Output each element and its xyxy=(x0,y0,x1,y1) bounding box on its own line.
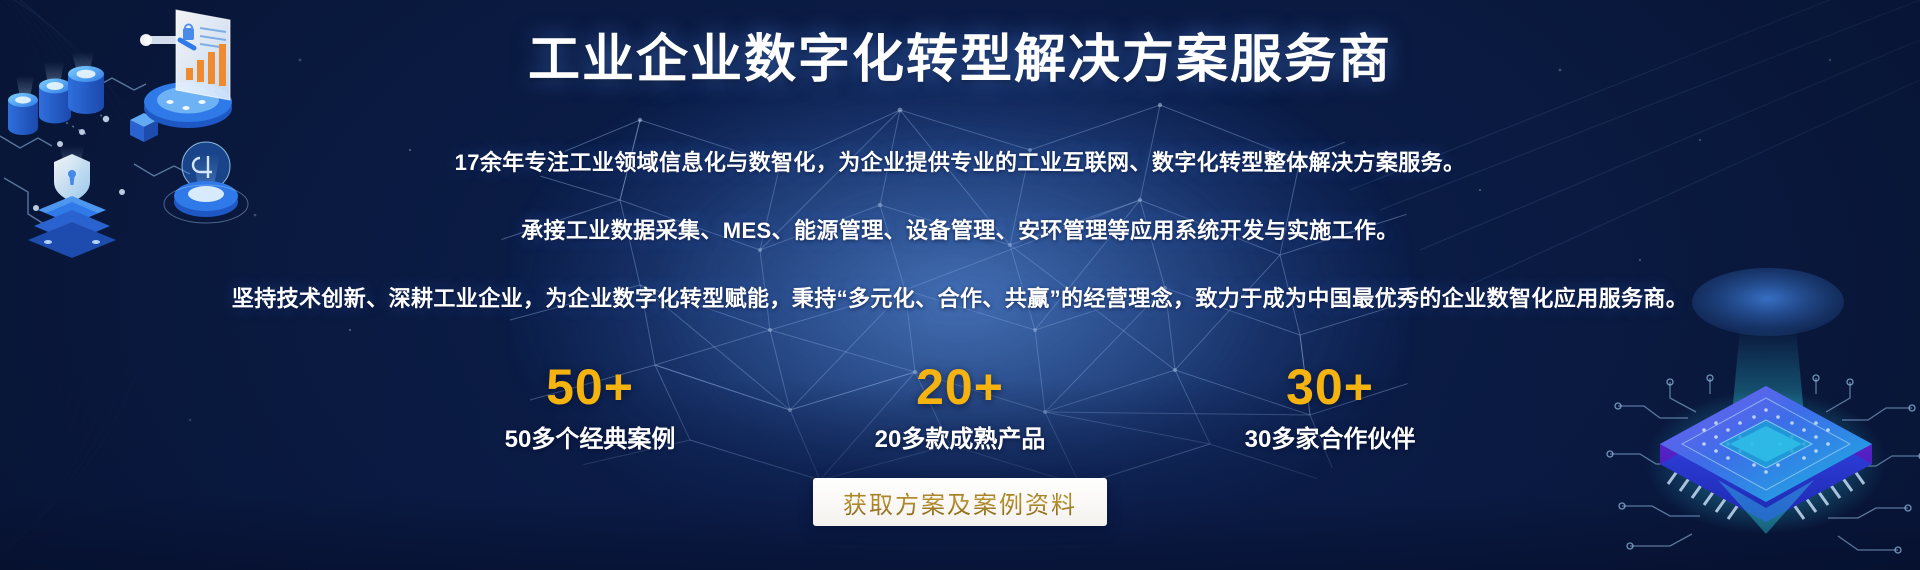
cta-container: 获取方案及案例资料 xyxy=(813,478,1107,526)
stat-item-partners: 30+ 30多家合作伙伴 xyxy=(1220,361,1440,455)
stat-item-cases: 50+ 50多个经典案例 xyxy=(480,361,700,455)
stat-label: 50多个经典案例 xyxy=(505,419,676,454)
stat-number: 50+ xyxy=(546,361,634,414)
stat-item-products: 20+ 20多款成熟产品 xyxy=(850,361,1070,455)
banner-content: 工业企业数字化转型解决方案服务商 17余年专注工业领域信息化与数智化，为企业提供… xyxy=(0,0,1920,570)
subtitle-line-3: 坚持技术创新、深耕工业企业，为企业数字化转型赋能，秉持“多元化、合作、共赢”的经… xyxy=(232,281,1688,313)
stat-number: 30+ xyxy=(1286,361,1374,414)
stats-row: 50+ 50多个经典案例 20+ 20多款成熟产品 30+ 30多家合作伙伴 xyxy=(480,361,1440,455)
cta-label: 获取方案及案例资料 xyxy=(843,485,1077,520)
subtitle-line-1: 17余年专注工业领域信息化与数智化，为企业提供专业的工业互联网、数字化转型整体解… xyxy=(455,145,1466,177)
subtitle-line-2: 承接工业数据采集、MES、能源管理、设备管理、安环管理等应用系统开发与实施工作。 xyxy=(521,213,1399,245)
stat-number: 20+ xyxy=(916,361,1004,414)
page-title: 工业企业数字化转型解决方案服务商 xyxy=(528,32,1392,88)
hero-banner: 工业企业数字化转型解决方案服务商 17余年专注工业领域信息化与数智化，为企业提供… xyxy=(0,0,1920,570)
stat-label: 20多款成熟产品 xyxy=(875,419,1046,454)
get-solution-button[interactable]: 获取方案及案例资料 xyxy=(813,478,1107,526)
stat-label: 30多家合作伙伴 xyxy=(1245,419,1416,454)
